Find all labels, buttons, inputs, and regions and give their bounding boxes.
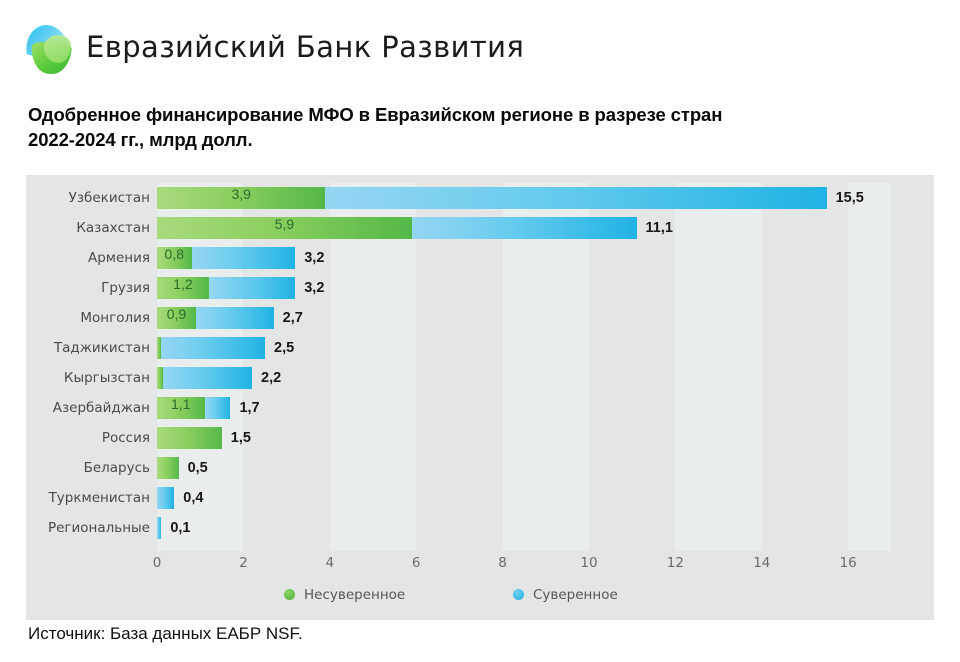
bar-segment-sovereign[interactable]	[196, 307, 274, 329]
total-value-label: 3,2	[304, 277, 324, 299]
x-axis: 0246810121416	[157, 555, 917, 577]
brand-header: Евразийский Банк Развития	[0, 0, 960, 92]
category-label: Армения	[26, 243, 150, 273]
legend-label: Суверенное	[533, 587, 618, 603]
stacked-bar[interactable]	[157, 457, 179, 479]
bar-row[interactable]: 2,2	[157, 363, 889, 393]
x-axis-tick-label: 6	[412, 555, 421, 571]
category-label: Узбекистан	[26, 183, 150, 213]
bar-row[interactable]: 0,4	[157, 483, 889, 513]
category-label: Россия	[26, 423, 150, 453]
brand-name: Евразийский Банк Развития	[86, 30, 524, 64]
bar-segment-nonsovereign[interactable]	[157, 457, 179, 479]
bar-row[interactable]: 0,1	[157, 513, 889, 543]
page-title: Одобренное финансирование МФО в Евразийс…	[28, 102, 938, 152]
bar-row[interactable]: 0,83,2	[157, 243, 889, 273]
total-value-label: 15,5	[836, 187, 864, 209]
bar-segment-sovereign[interactable]	[412, 217, 637, 239]
bar-row[interactable]: 2,5	[157, 333, 889, 363]
total-value-label: 11,1	[646, 217, 673, 239]
bar-row[interactable]: 1,5	[157, 423, 889, 453]
x-axis-tick-label: 10	[580, 555, 597, 571]
bar-segment-nonsovereign[interactable]	[157, 427, 222, 449]
page-title-line-1: Одобренное финансирование МФО в Евразийс…	[28, 102, 938, 127]
total-value-label: 2,2	[261, 367, 281, 389]
total-value-label: 1,7	[239, 397, 259, 419]
bar-segment-sovereign[interactable]	[325, 187, 826, 209]
bar-segment-sovereign[interactable]	[163, 367, 252, 389]
total-value-label: 3,2	[304, 247, 324, 269]
bar-rows: 3,915,55,911,10,83,21,23,20,92,72,52,21,…	[157, 183, 889, 551]
total-value-label: 2,7	[283, 307, 303, 329]
bar-row[interactable]: 0,92,7	[157, 303, 889, 333]
x-axis-tick-label: 16	[840, 555, 857, 571]
stacked-bar[interactable]	[157, 427, 222, 449]
bar-row[interactable]: 5,911,1	[157, 213, 889, 243]
category-label: Грузия	[26, 273, 150, 303]
category-label: Кыргызстан	[26, 363, 150, 393]
legend-label: Несуверенное	[304, 587, 405, 603]
stacked-bar[interactable]	[157, 517, 161, 539]
page-title-line-2: 2022-2024 гг., млрд долл.	[28, 127, 938, 152]
stacked-bar[interactable]	[157, 367, 252, 389]
bar-row[interactable]: 3,915,5	[157, 183, 889, 213]
x-axis-tick-label: 4	[326, 555, 335, 571]
total-value-label: 0,5	[188, 457, 208, 479]
legend-item[interactable]: Несуверенное	[284, 585, 405, 605]
stacked-bar[interactable]	[157, 487, 174, 509]
segment-value-label: 1,2	[157, 273, 209, 295]
bar-segment-sovereign[interactable]	[192, 247, 296, 269]
total-value-label: 2,5	[274, 337, 294, 359]
source-note: Источник: База данных ЕАБР NSF.	[28, 624, 303, 644]
total-value-label: 0,1	[170, 517, 190, 539]
bar-row[interactable]: 1,23,2	[157, 273, 889, 303]
green-dot-icon	[284, 589, 295, 600]
chart-panel: УзбекистанКазахстанАрменияГрузияМонголия…	[26, 175, 934, 620]
legend-item[interactable]: Суверенное	[513, 585, 618, 605]
bar-segment-sovereign[interactable]	[205, 397, 231, 419]
segment-value-label: 0,9	[157, 303, 196, 325]
category-label: Туркменистан	[26, 483, 150, 513]
total-value-label: 0,4	[183, 487, 203, 509]
eabr-logo-icon	[20, 21, 76, 77]
stacked-bar[interactable]	[157, 337, 265, 359]
x-axis-tick-label: 12	[667, 555, 684, 571]
x-axis-tick-label: 8	[498, 555, 507, 571]
segment-value-label: 0,8	[157, 243, 192, 265]
x-axis-tick-label: 0	[153, 555, 162, 571]
category-axis-labels: УзбекистанКазахстанАрменияГрузияМонголия…	[26, 183, 150, 551]
category-label: Региональные	[26, 513, 150, 543]
bar-segment-sovereign[interactable]	[161, 337, 265, 359]
category-label: Азербайджан	[26, 393, 150, 423]
bar-row[interactable]: 0,5	[157, 453, 889, 483]
plot-area: 3,915,55,911,10,83,21,23,20,92,72,52,21,…	[157, 183, 889, 551]
bar-segment-sovereign[interactable]	[157, 517, 161, 539]
segment-value-label: 5,9	[157, 213, 412, 235]
bar-row[interactable]: 1,11,7	[157, 393, 889, 423]
x-axis-tick-label: 14	[753, 555, 770, 571]
blue-dot-icon	[513, 589, 524, 600]
category-label: Таджикистан	[26, 333, 150, 363]
chart-legend: НесуверенноеСуверенное	[26, 585, 934, 609]
x-axis-tick-label: 2	[239, 555, 248, 571]
bar-segment-sovereign[interactable]	[209, 277, 295, 299]
category-label: Монголия	[26, 303, 150, 333]
category-label: Казахстан	[26, 213, 150, 243]
segment-value-label: 1,1	[157, 393, 205, 415]
bar-segment-sovereign[interactable]	[157, 487, 174, 509]
category-label: Беларусь	[26, 453, 150, 483]
segment-value-label: 3,9	[157, 183, 325, 205]
total-value-label: 1,5	[231, 427, 251, 449]
